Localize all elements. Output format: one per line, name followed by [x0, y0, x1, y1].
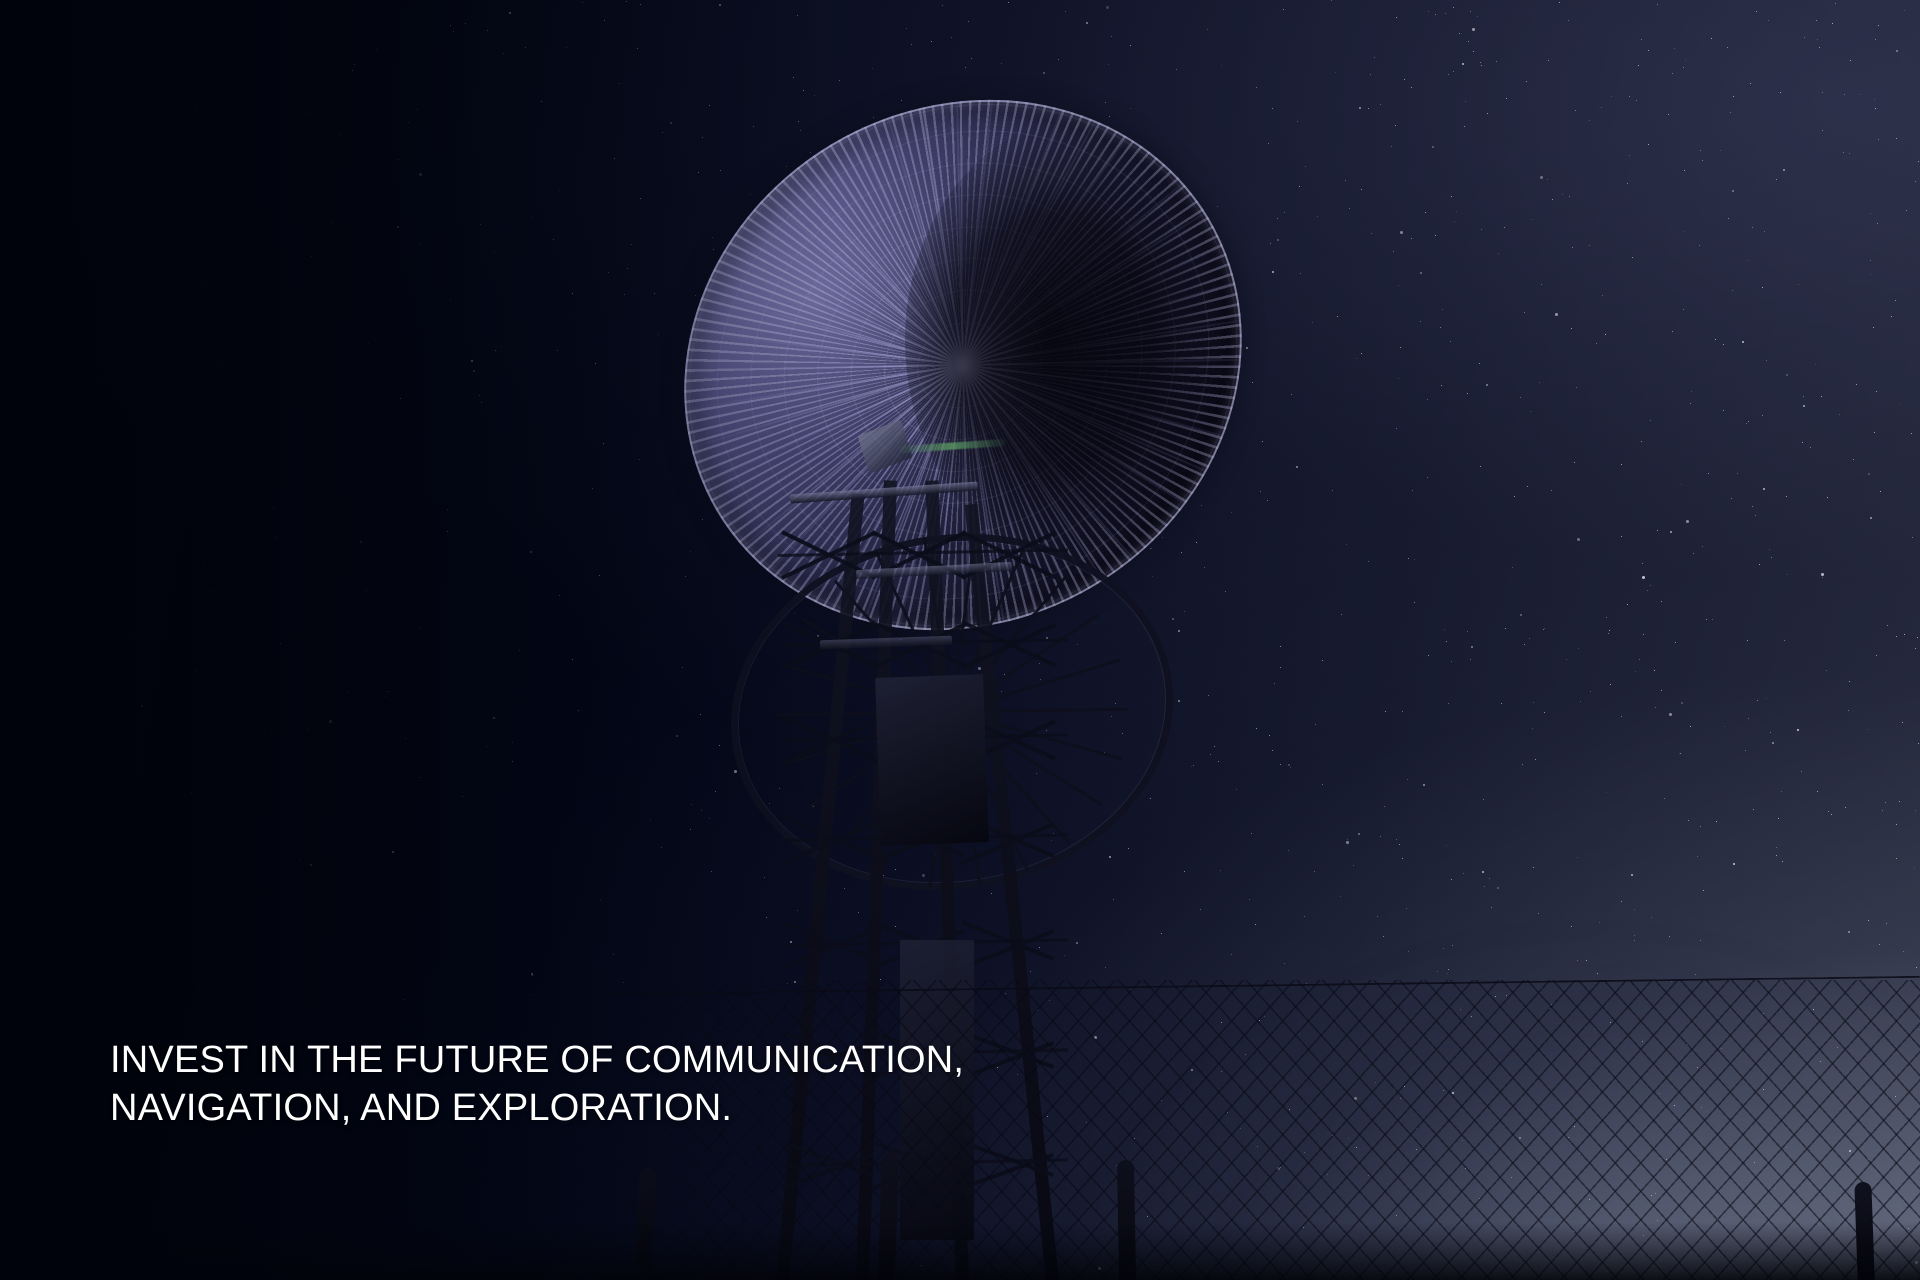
hero-banner: INVEST IN THE FUTURE OF COMMUNICATION, N…	[0, 0, 1920, 1280]
hero-headline: INVEST IN THE FUTURE OF COMMUNICATION, N…	[110, 1036, 1110, 1132]
